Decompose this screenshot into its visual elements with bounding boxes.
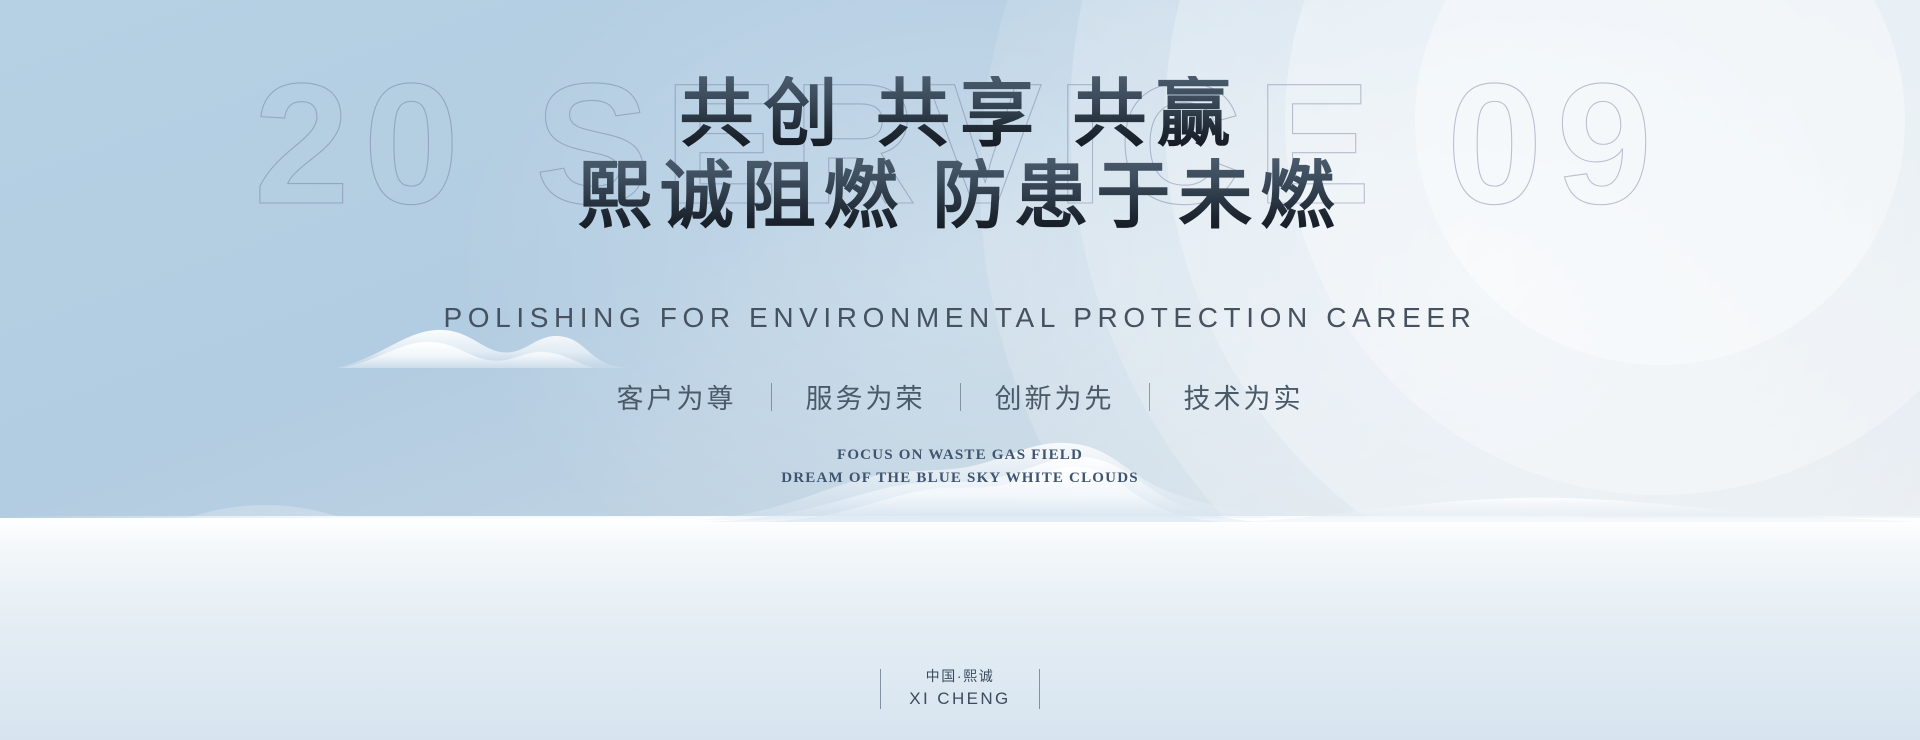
value-item-4: 技术为实 [1150, 377, 1338, 416]
logo-text: 中国·熙诚 XI CHENG [909, 666, 1010, 712]
serif-subtitle-block: FOCUS ON WASTE GAS FIELD DREAM OF THE BL… [0, 444, 1920, 491]
core-values-row: 客户为尊 服务为荣 创新为先 技术为实 [0, 377, 1920, 416]
headline-line-1: 共创 共享 共赢 [0, 76, 1920, 154]
logo-rule-right [1039, 669, 1040, 709]
logo-rule-left [880, 669, 881, 709]
headline-line-2: 熙诚阻燃 防患于未燃 [0, 158, 1920, 236]
value-item-2: 服务为荣 [772, 377, 960, 416]
cloud-left [336, 330, 636, 368]
serif-subtitle-line-1: FOCUS ON WASTE GAS FIELD [0, 444, 1920, 467]
hero-banner: 20 SERVICE 09 共创 共享 共赢 熙诚阻燃 防患于未燃 POLISH… [0, 0, 1920, 740]
value-item-3: 创新为先 [961, 377, 1149, 416]
logo-chinese-name: 中国·熙诚 [909, 666, 1010, 687]
value-item-1: 客户为尊 [583, 377, 771, 416]
logo-lockup: 中国·熙诚 XI CHENG [0, 666, 1920, 712]
serif-subtitle-line-2: DREAM OF THE BLUE SKY WHITE CLOUDS [0, 467, 1920, 490]
headline-block: 共创 共享 共赢 熙诚阻燃 防患于未燃 [0, 76, 1920, 237]
logo-english-name: XI CHENG [909, 687, 1010, 712]
english-tagline: POLISHING FOR ENVIRONMENTAL PROTECTION C… [0, 302, 1920, 334]
horizon-line [0, 516, 1920, 518]
